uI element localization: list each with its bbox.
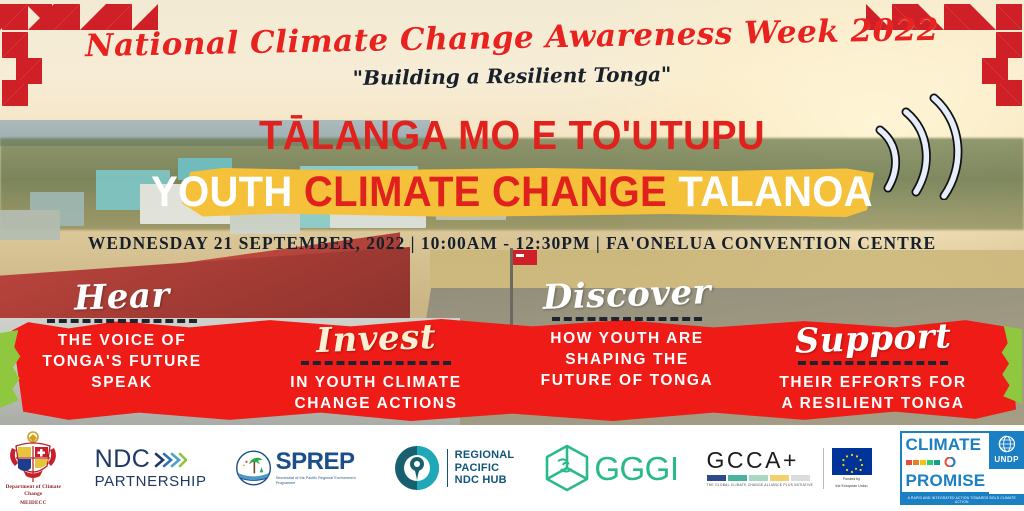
climate-promise-line2: PROMISE bbox=[906, 472, 986, 490]
title-tongan: TĀLANGA MO E TO'UTUPU bbox=[36, 112, 988, 158]
event-date: WEDNESDAY 21 SEPTEMBER, 2022 bbox=[88, 233, 405, 253]
sound-wave-icon bbox=[858, 88, 968, 205]
callout-divider bbox=[552, 317, 702, 321]
partner-logo-strip: Department of Climate Change MEIDECC NDC bbox=[0, 425, 1024, 511]
title-word-youth: YOUTH bbox=[151, 168, 292, 216]
logo-climate-promise-undp: CLIMATE PROMISE bbox=[900, 431, 1024, 505]
tonga-dept-line2: MEIDECC bbox=[20, 500, 46, 507]
callout-divider bbox=[301, 361, 451, 365]
detail-separator-1: | bbox=[411, 233, 416, 253]
title-word-climate-change: CLIMATE CHANGE bbox=[304, 168, 667, 216]
hub-line-1: REGIONAL bbox=[455, 449, 515, 462]
title-word-talanoa: TALANOA bbox=[678, 168, 872, 216]
gcca-color-bars-icon bbox=[707, 475, 815, 481]
hub-line-3: NDC HUB bbox=[455, 474, 515, 487]
climate-promise-strip: A RAPID AND INTEGRATED ACTION TOWARDS BO… bbox=[900, 494, 1024, 505]
logo-gcca-plus: GCCA+ THE GLOBAL CLIMATE CHANGE ALLIANCE… bbox=[707, 448, 872, 489]
callout-hear: Hear THE VOICE OF TONGA'S FUTURE SPEAK bbox=[22, 280, 222, 393]
poster-root: National Climate Change Awareness Week 2… bbox=[0, 0, 1024, 511]
undp-wordmark: UNDP bbox=[994, 455, 1019, 465]
callout-body-hear: THE VOICE OF TONGA'S FUTURE SPEAK bbox=[22, 330, 222, 393]
gcca-subtitle: THE GLOBAL CLIMATE CHANGE ALLIANCE PLUS … bbox=[707, 483, 814, 487]
callout-invest: Invest IN YOUTH CLIMATE CHANGE ACTIONS bbox=[262, 322, 490, 414]
logo-gggi: GGGI bbox=[542, 443, 678, 493]
callout-body-discover: HOW YOUTH ARE SHAPING THE FUTURE OF TONG… bbox=[512, 328, 742, 391]
climate-promise-line1: CLIMATE bbox=[906, 436, 986, 454]
logo-regional-pacific-ndc-hub: REGIONAL PACIFIC NDC HUB bbox=[393, 444, 515, 492]
callout-body-invest: IN YOUTH CLIMATE CHANGE ACTIONS bbox=[262, 372, 490, 414]
callout-script-invest: Invest bbox=[261, 318, 490, 360]
event-venue: FA'ONELUA CONVENTION CENTRE bbox=[606, 233, 936, 253]
hub-line-2: PACIFIC bbox=[455, 462, 515, 475]
ndc-chevrons-icon bbox=[153, 450, 187, 470]
logo-tonga-government: Department of Climate Change MEIDECC bbox=[0, 430, 67, 507]
event-time: 10:00AM - 12:30PM bbox=[421, 233, 591, 253]
ndc-wordmark: NDC bbox=[95, 447, 151, 472]
event-details-line: WEDNESDAY 21 SEPTEMBER, 2022 | 10:00AM -… bbox=[0, 233, 1024, 254]
logo-ndc-partnership: NDC PARTNERSHIP bbox=[95, 447, 207, 489]
callout-body-support: THEIR EFFORTS FOR A RESILIENT TONGA bbox=[760, 372, 986, 414]
logo-sprep: SPREP Secretariat of the Pacific Regiona… bbox=[235, 447, 365, 489]
gggi-cube-icon bbox=[542, 443, 592, 493]
tonga-coat-of-arms-icon bbox=[6, 430, 60, 482]
callout-support: Support THEIR EFFORTS FOR A RESILIENT TO… bbox=[760, 322, 986, 414]
callout-discover: Discover HOW YOUTH ARE SHAPING THE FUTUR… bbox=[512, 278, 742, 391]
tonga-dept-line1: Department of Climate Change bbox=[0, 484, 67, 498]
callout-script-support: Support bbox=[759, 318, 986, 360]
ndc-hub-mark-icon bbox=[393, 444, 441, 492]
undp-globe-icon bbox=[998, 435, 1016, 453]
sprep-emblem-icon bbox=[235, 447, 272, 489]
sprep-wordmark: SPREP bbox=[276, 450, 365, 474]
callout-script-discover: Discover bbox=[511, 274, 742, 316]
eu-caption-line1: Funded by bbox=[843, 477, 860, 482]
european-union-flag-icon bbox=[832, 448, 872, 475]
callout-divider bbox=[47, 319, 197, 323]
callout-divider bbox=[798, 361, 948, 365]
climate-promise-spectrum-icon bbox=[906, 457, 970, 467]
title-english: YOUTH CLIMATE CHANGE TALANOA bbox=[36, 166, 988, 218]
ndc-partnership-label: PARTNERSHIP bbox=[95, 474, 207, 489]
detail-separator-2: | bbox=[596, 233, 601, 253]
gggi-wordmark: GGGI bbox=[594, 452, 678, 485]
sprep-subtitle: Secretariat of the Pacific Regional Envi… bbox=[276, 476, 365, 486]
gcca-wordmark: GCCA+ bbox=[707, 449, 799, 472]
eu-caption-line2: the European Union bbox=[836, 484, 868, 489]
callout-script-hear: Hear bbox=[21, 277, 222, 318]
